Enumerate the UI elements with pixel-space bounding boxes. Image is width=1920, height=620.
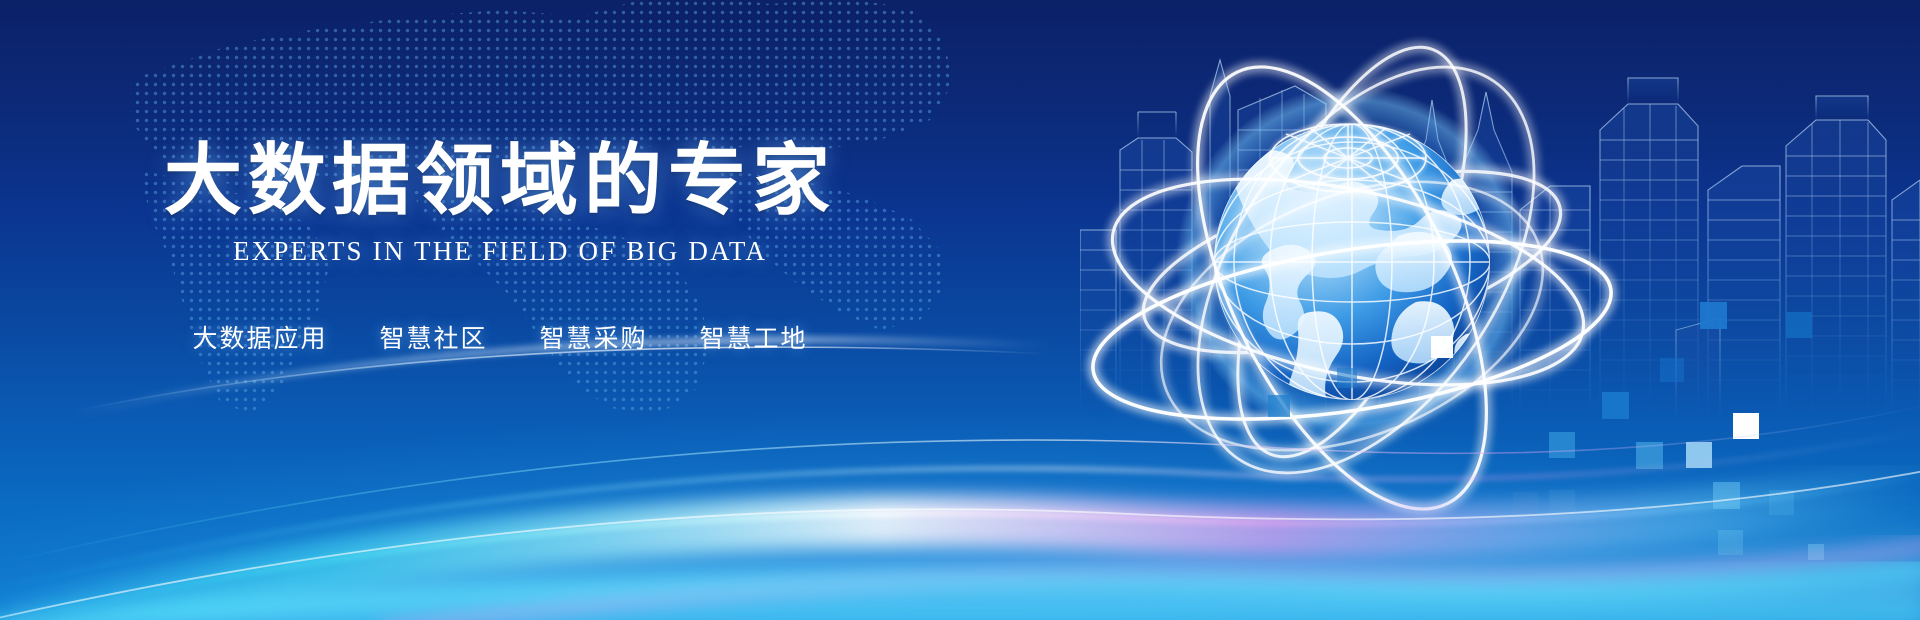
mosaic-square <box>1636 442 1663 469</box>
mosaic-square <box>1808 544 1824 560</box>
tag-list: 大数据应用智慧社区智慧采购智慧工地 <box>0 319 1000 355</box>
mosaic-square <box>1718 530 1743 555</box>
tag-item[interactable]: 智慧采购 <box>540 319 648 355</box>
banner-copy: 大数据领域的专家 EXPERTS IN THE FIELD OF BIG DAT… <box>0 140 1000 355</box>
mosaic-square <box>1713 482 1740 509</box>
tag-item[interactable]: 大数据应用 <box>192 319 327 355</box>
mosaic-square <box>1686 442 1712 468</box>
page-title: 大数据领域的专家 <box>0 140 1000 220</box>
globe-network-icon <box>1080 30 1640 550</box>
hero-banner: 大数据领域的专家 EXPERTS IN THE FIELD OF BIG DAT… <box>0 0 1920 620</box>
tag-item[interactable]: 智慧工地 <box>700 319 808 355</box>
tag-item[interactable]: 智慧社区 <box>379 319 487 355</box>
mosaic-square <box>1769 490 1794 515</box>
page-subtitle: EXPERTS IN THE FIELD OF BIG DATA <box>0 236 1000 267</box>
